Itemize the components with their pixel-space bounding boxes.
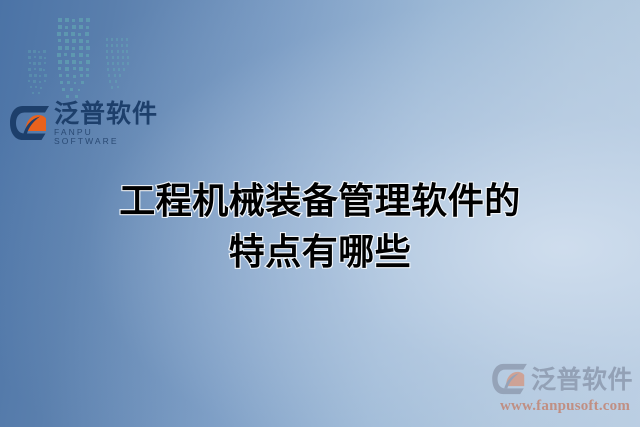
- page-title: 工程机械装备管理软件的 特点有哪些: [0, 176, 640, 278]
- watermark-logo-row: 泛普软件: [492, 363, 638, 395]
- brand-logo: 泛普软件 FANPU SOFTWARE: [10, 98, 160, 148]
- pixel-building-dots-decoration: [28, 4, 168, 100]
- watermark-name-cn: 泛普软件: [531, 367, 633, 392]
- fanpu-hexagon-logo-icon: [10, 105, 50, 141]
- poster-canvas: 泛普软件 FANPU SOFTWARE 工程机械装备管理软件的 特点有哪些 泛普…: [0, 0, 640, 427]
- brand-name-cn: 泛普软件: [54, 101, 160, 127]
- brand-name-en: FANPU SOFTWARE: [54, 128, 160, 145]
- page-title-line-2: 特点有哪些: [0, 227, 640, 278]
- brand-text-block: 泛普软件 FANPU SOFTWARE: [54, 101, 160, 145]
- fanpu-hexagon-logo-icon: [492, 363, 528, 395]
- watermark-url: www.fanpusoft.com: [492, 398, 638, 415]
- watermark: 泛普软件 www.fanpusoft.com: [492, 363, 638, 423]
- page-title-line-1: 工程机械装备管理软件的: [0, 176, 640, 227]
